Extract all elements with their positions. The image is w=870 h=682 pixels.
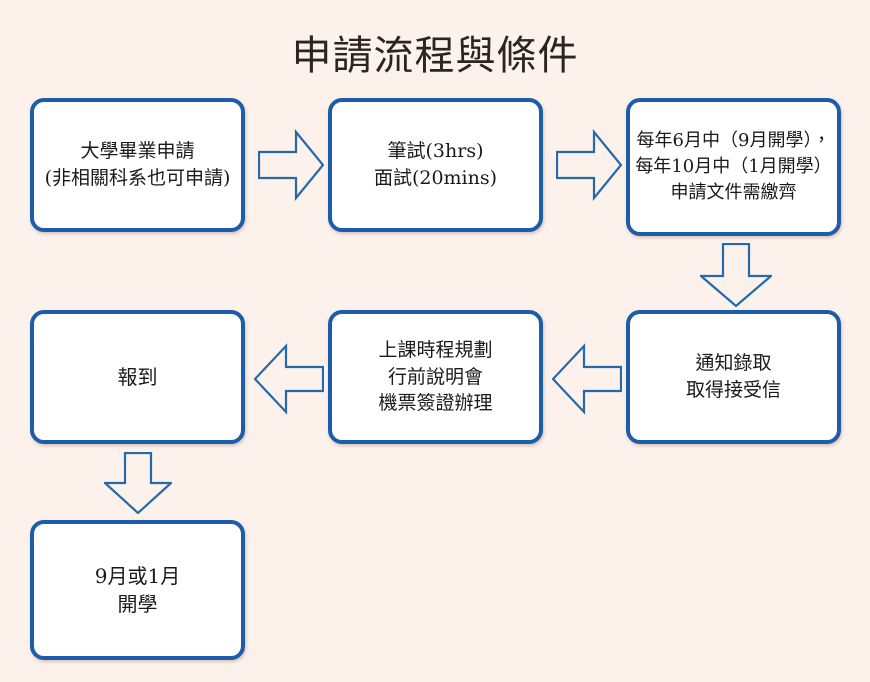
flow-node-admission-notice[interactable]: 通知錄取 取得接受信 <box>626 310 841 444</box>
flow-node-line: 大學畢業申請 <box>45 138 231 165</box>
arrow-right-icon <box>556 128 622 202</box>
flow-node-pre-departure-preparation[interactable]: 上課時程規劃 行前說明會 機票簽證辦理 <box>328 310 543 444</box>
flow-node-line: 機票簽證辦理 <box>378 390 492 417</box>
flow-node-university-application[interactable]: 大學畢業申請 (非相關科系也可申請) <box>30 98 245 232</box>
flow-node-line: 面試(20mins) <box>374 165 497 192</box>
arrow-left-icon <box>552 343 622 415</box>
flow-node-semester-start[interactable]: 9月或1月 開學 <box>30 520 245 660</box>
flow-node-line: 開學 <box>95 590 180 618</box>
flow-node-application-deadlines[interactable]: 每年6月中（9月開學）， 每年10月中（1月開學） 申請文件需繳齊 <box>626 98 841 236</box>
arrow-left-icon <box>254 343 324 415</box>
arrow-down-icon <box>104 452 172 514</box>
flow-node-text: 筆試(3hrs) 面試(20mins) <box>374 138 497 192</box>
flow-node-text: 9月或1月 開學 <box>95 562 180 619</box>
flowchart-canvas: 申請流程與條件 大學畢業申請 (非相關科系也可申請) 筆試(3hrs) 面試(2… <box>0 0 870 682</box>
flow-node-text: 每年6月中（9月開學）， 每年10月中（1月開學） 申請文件需繳齊 <box>630 128 837 206</box>
flow-node-text: 通知錄取 取得接受信 <box>686 350 781 404</box>
flow-node-check-in[interactable]: 報到 <box>30 310 245 444</box>
flow-node-line: 9月或1月 <box>95 562 180 590</box>
flow-node-line: 筆試(3hrs) <box>374 138 497 165</box>
flow-node-line: 行前說明會 <box>378 364 492 391</box>
flow-node-line: 每年10月中（1月開學） <box>630 154 837 180</box>
flow-node-text: 大學畢業申請 (非相關科系也可申請) <box>45 138 231 192</box>
flow-node-line: 取得接受信 <box>686 377 781 404</box>
flow-node-line: 申請文件需繳齊 <box>630 180 837 206</box>
flow-node-line: 通知錄取 <box>686 350 781 377</box>
flow-node-line: 每年6月中（9月開學）， <box>630 128 837 154</box>
page-title: 申請流程與條件 <box>0 32 870 80</box>
flow-node-text: 報到 <box>118 363 158 391</box>
arrow-down-icon <box>700 243 772 307</box>
arrow-right-icon <box>258 128 324 202</box>
flow-node-text: 上課時程規劃 行前說明會 機票簽證辦理 <box>378 337 492 418</box>
flow-node-line: 上課時程規劃 <box>378 337 492 364</box>
flow-node-line: (非相關科系也可申請) <box>45 165 231 192</box>
flow-node-written-and-oral-exam[interactable]: 筆試(3hrs) 面試(20mins) <box>328 98 543 232</box>
flow-node-line: 報到 <box>118 363 158 391</box>
